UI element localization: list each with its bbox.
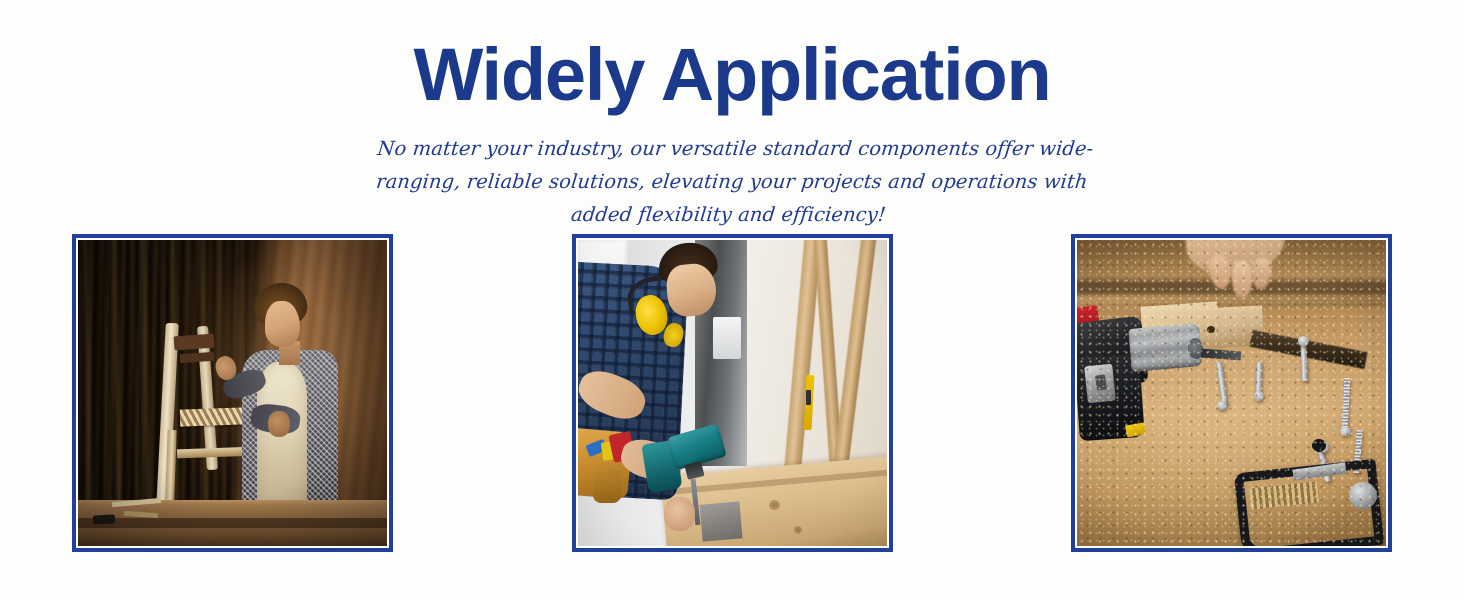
photo-vignette [78, 240, 387, 546]
gallery-item-construction-drilling[interactable] [572, 234, 893, 552]
photo-vignette [1077, 240, 1386, 546]
subtitle-line-2: elevating your projects and operations w… [570, 170, 1089, 226]
photo-vignette [578, 240, 887, 546]
section-heading: Widely Application No matter your indust… [0, 32, 1464, 231]
page-title: Widely Application [0, 32, 1464, 118]
photo-driver-screws-sawdust [1077, 240, 1386, 546]
photo-craftsman-wooden-chair [78, 240, 387, 546]
widely-application-section: Widely Application No matter your indust… [0, 0, 1464, 600]
gallery-item-furniture-making[interactable] [72, 234, 393, 552]
application-image-gallery [72, 234, 1392, 552]
gallery-item-fasteners-and-tools[interactable] [1071, 234, 1392, 552]
section-subtitle: No matter your industry, our versatile s… [367, 132, 1097, 231]
photo-carpenter-drilling-plank [578, 240, 887, 546]
